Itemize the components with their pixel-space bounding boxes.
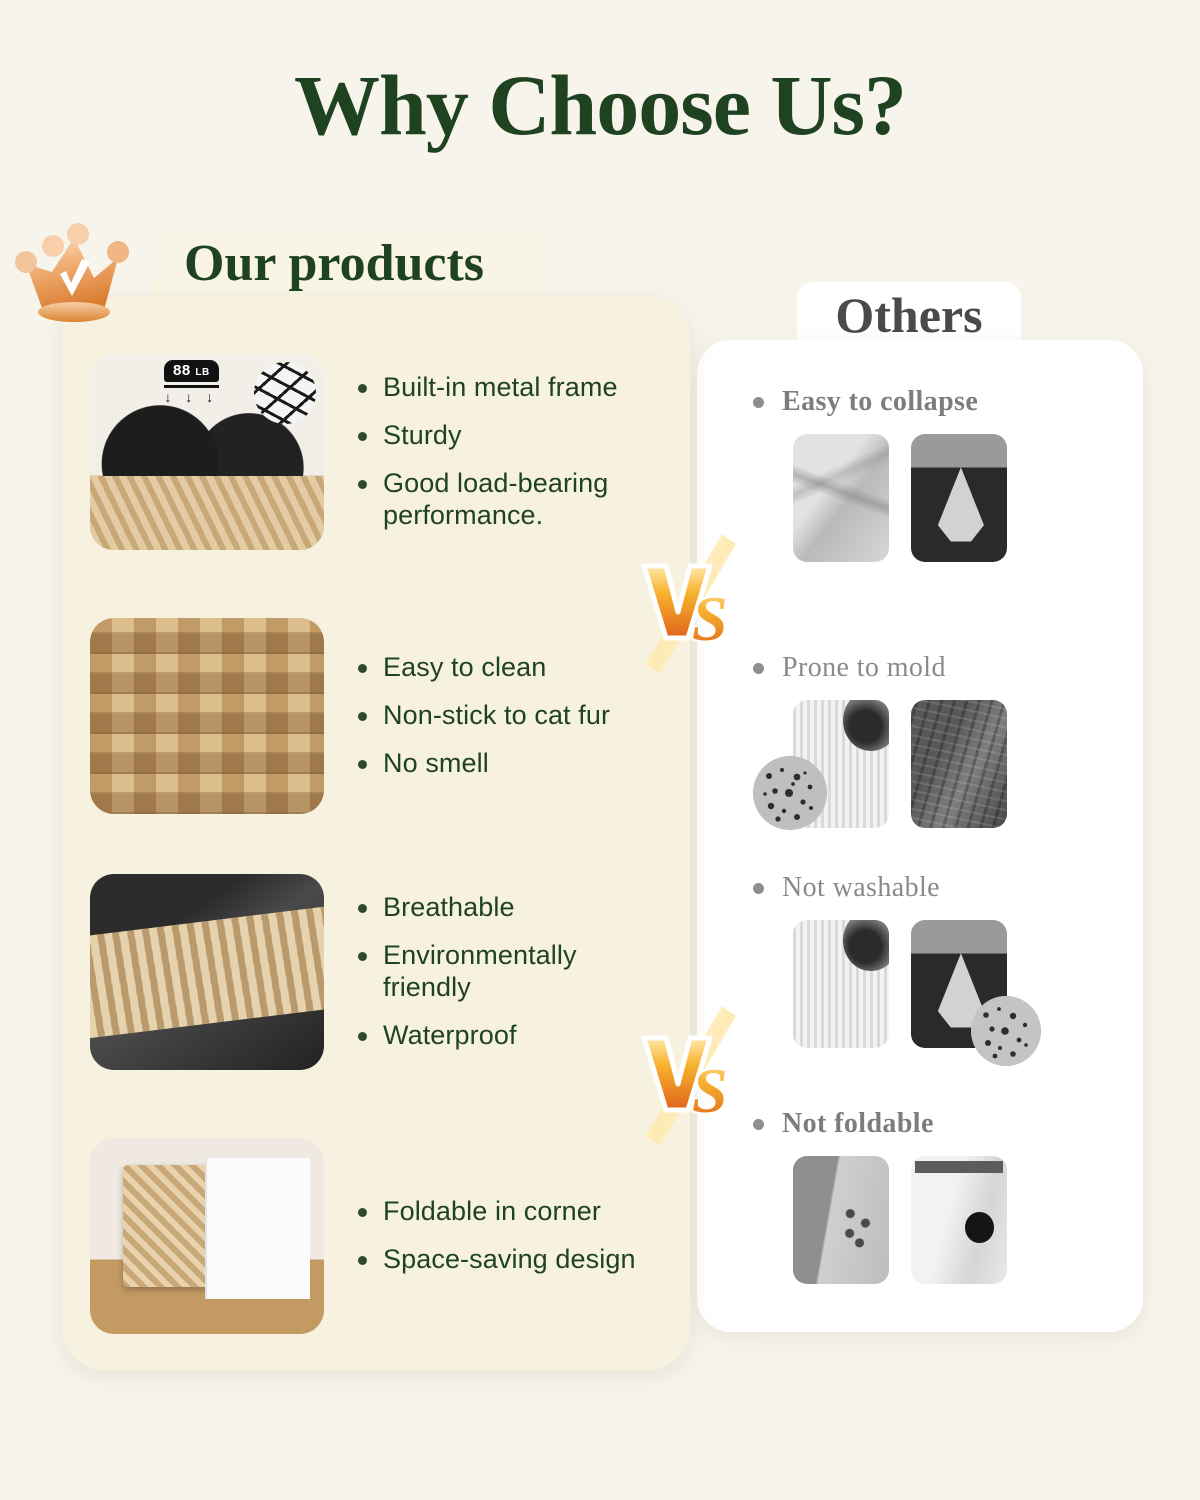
bullet-text: Breathable bbox=[383, 892, 515, 924]
collapsed-fabric-box-photo bbox=[793, 434, 889, 562]
bullet-dot-icon bbox=[358, 760, 367, 769]
bullet-text: Built-in metal frame bbox=[383, 372, 618, 404]
crown-icon bbox=[8, 212, 168, 332]
our-products-tab-label: Our products bbox=[184, 234, 484, 293]
bullet-dot-icon bbox=[753, 663, 764, 674]
bullet-dot-icon bbox=[358, 1032, 367, 1041]
others-row-not-foldable: Not foldable bbox=[697, 1108, 1143, 1284]
our-products-panel: 88 LB ↓ ↓ ↓ Built-in metal frame Sturdy … bbox=[62, 296, 690, 1370]
weight-value: 88 bbox=[173, 362, 191, 379]
product-bullet-item: No smell bbox=[358, 748, 690, 780]
rigid-gray-box-photo bbox=[793, 1156, 889, 1284]
product-row-1: 88 LB ↓ ↓ ↓ Built-in metal frame Sturdy … bbox=[62, 354, 690, 550]
product-bullet-item: Built-in metal frame bbox=[358, 372, 690, 404]
bullet-dot-icon bbox=[358, 712, 367, 721]
ribbed-fabric-photo bbox=[793, 920, 889, 1048]
others-images-1 bbox=[793, 434, 1143, 562]
vs-badge-bottom: S bbox=[630, 1000, 740, 1150]
bullet-dot-icon bbox=[358, 1256, 367, 1265]
bullet-dot-icon bbox=[358, 384, 367, 393]
bullet-dot-icon bbox=[358, 1208, 367, 1217]
bullet-dot-icon bbox=[358, 664, 367, 673]
others-images-4 bbox=[793, 1156, 1143, 1284]
product-bullet-item: Good load-bearing performance. bbox=[358, 468, 690, 532]
product-bullet-item: Sturdy bbox=[358, 420, 690, 452]
others-bullet-3: Not washable bbox=[753, 872, 1143, 904]
bullet-dot-icon bbox=[753, 1119, 764, 1130]
down-arrows-icon: ↓ ↓ ↓ bbox=[164, 390, 219, 404]
others-label-3: Not washable bbox=[782, 872, 940, 904]
bullet-dot-icon bbox=[358, 480, 367, 489]
product-bullet-item: Environmentally friendly bbox=[358, 940, 690, 1004]
product-bullet-item: Foldable in corner bbox=[358, 1196, 690, 1228]
others-label-1: Easy to collapse bbox=[782, 386, 978, 418]
product-bullet-item: Non-stick to cat fur bbox=[358, 700, 690, 732]
bullet-dot-icon bbox=[358, 904, 367, 913]
others-row-not-washable: Not washable bbox=[697, 872, 1143, 1048]
bullet-dot-icon bbox=[358, 952, 367, 961]
moldy-surface-photo bbox=[911, 700, 1007, 828]
bullet-dot-icon bbox=[753, 397, 764, 408]
others-label-4: Not foldable bbox=[782, 1108, 934, 1140]
bullet-text: Easy to clean bbox=[383, 652, 546, 684]
others-row-easy-to-collapse: Easy to collapse bbox=[697, 386, 1143, 562]
dumbbells-in-rattan-basket-photo: 88 LB ↓ ↓ ↓ bbox=[90, 354, 324, 550]
product-bullet-item: Breathable bbox=[358, 892, 690, 924]
metal-frame-closeup-inset bbox=[254, 362, 316, 424]
vs-label: S bbox=[692, 1055, 728, 1126]
mold-speckle-circle-icon bbox=[753, 756, 827, 830]
rattan-panel-steam-test-photo bbox=[90, 874, 324, 1070]
bullet-dot-icon bbox=[753, 883, 764, 894]
others-bullet-1: Easy to collapse bbox=[753, 386, 1143, 418]
others-panel: Easy to collapse Prone to mold bbox=[697, 340, 1143, 1332]
product-bullets-4: Foldable in corner Space-saving design bbox=[358, 1196, 690, 1276]
bullet-text: Environmentally friendly bbox=[383, 940, 633, 1004]
bullet-text: No smell bbox=[383, 748, 489, 780]
folded-litter-box-in-corner-photo bbox=[90, 1138, 324, 1334]
bullet-text: Space-saving design bbox=[383, 1244, 636, 1276]
page-title: Why Choose Us? bbox=[0, 62, 1200, 148]
product-row-2: Easy to clean Non-stick to cat fur No sm… bbox=[62, 618, 690, 814]
weight-badge: 88 LB ↓ ↓ ↓ bbox=[164, 360, 219, 404]
others-row-prone-to-mold: Prone to mold bbox=[697, 652, 1143, 828]
mold-speckle-circle-icon bbox=[971, 996, 1041, 1066]
others-images-2 bbox=[793, 700, 1143, 828]
bullet-text: Sturdy bbox=[383, 420, 462, 452]
bullet-text: Waterproof bbox=[383, 1020, 517, 1052]
rattan-weave-closeup-photo bbox=[90, 618, 324, 814]
others-tab-label: Others bbox=[797, 286, 1021, 344]
product-bullets-1: Built-in metal frame Sturdy Good load-be… bbox=[358, 372, 690, 531]
product-row-4: Foldable in corner Space-saving design bbox=[62, 1138, 690, 1334]
product-bullet-item: Space-saving design bbox=[358, 1244, 690, 1276]
others-images-3 bbox=[793, 920, 1143, 1048]
vs-badge-top: S bbox=[630, 528, 740, 678]
others-bullet-4: Not foldable bbox=[753, 1108, 1143, 1140]
bullet-text: Foldable in corner bbox=[383, 1196, 601, 1228]
product-row-3: Breathable Environmentally friendly Wate… bbox=[62, 874, 690, 1070]
collapsed-dark-box-photo bbox=[911, 434, 1007, 562]
rigid-white-box-photo bbox=[911, 1156, 1007, 1284]
vs-label: S bbox=[692, 583, 728, 654]
others-bullet-2: Prone to mold bbox=[753, 652, 1143, 684]
others-label-2: Prone to mold bbox=[782, 652, 946, 684]
bullet-dot-icon bbox=[358, 432, 367, 441]
bullet-text: Good load-bearing performance. bbox=[383, 468, 653, 532]
bullet-text: Non-stick to cat fur bbox=[383, 700, 610, 732]
weight-unit: LB bbox=[195, 367, 209, 378]
